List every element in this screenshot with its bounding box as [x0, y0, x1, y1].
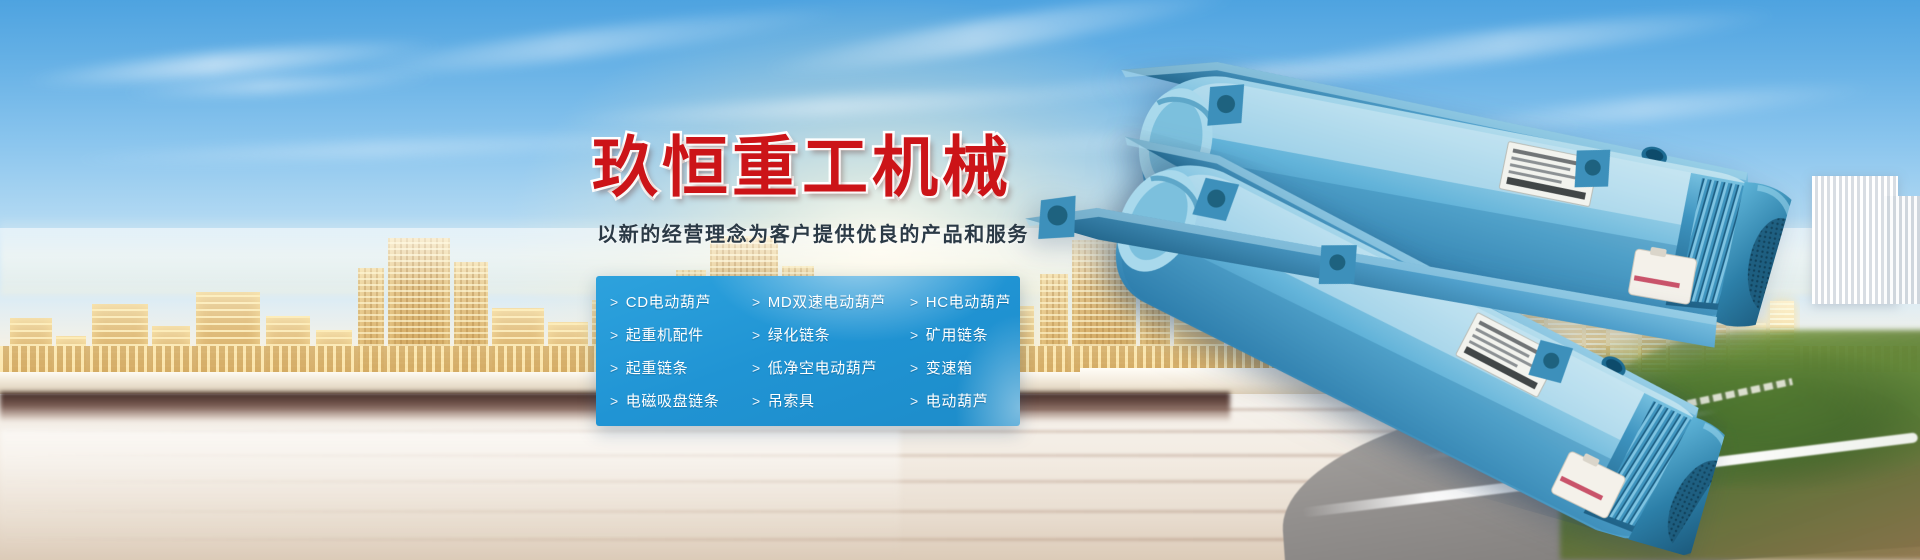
product-link-label: 电磁吸盘链条 — [626, 390, 720, 411]
product-link-6[interactable]: >矿用链条 — [910, 318, 1020, 351]
product-link-label: 变速箱 — [926, 357, 973, 378]
product-links-grid: >CD电动葫芦>MD双速电动葫芦>HC电动葫芦>起重机配件>绿化链条>矿用链条>… — [596, 276, 1020, 426]
product-link-label: 低净空电动葫芦 — [768, 357, 877, 378]
page-subtitle: 以新的经营理念为客户提供优良的产品和服务 — [597, 218, 1029, 247]
product-link-8[interactable]: >低净空电动葫芦 — [752, 351, 910, 384]
product-link-1[interactable]: >CD电动葫芦 — [610, 285, 752, 318]
product-links-panel: >CD电动葫芦>MD双速电动葫芦>HC电动葫芦>起重机配件>绿化链条>矿用链条>… — [596, 276, 1020, 426]
chevron-right-icon: > — [910, 393, 919, 409]
product-link-12[interactable]: >电动葫芦 — [910, 384, 1020, 417]
product-link-2[interactable]: >MD双速电动葫芦 — [752, 285, 910, 318]
product-link-label: 吊索具 — [768, 390, 815, 411]
product-link-5[interactable]: >绿化链条 — [752, 318, 910, 351]
chevron-right-icon: > — [610, 294, 619, 310]
chevron-right-icon: > — [610, 360, 619, 376]
product-link-label: 矿用链条 — [926, 324, 988, 345]
white-skyscraper-secondary — [1884, 196, 1920, 304]
road-motion-blur — [0, 430, 900, 560]
product-link-label: 电动葫芦 — [926, 390, 988, 411]
product-link-11[interactable]: >吊索具 — [752, 384, 910, 417]
product-link-label: HC电动葫芦 — [926, 291, 1011, 312]
product-link-label: MD双速电动葫芦 — [768, 291, 886, 312]
promo-banner: 玖恒重工机械 以新的经营理念为客户提供优良的产品和服务 >CD电动葫芦>MD双速… — [0, 0, 1920, 560]
product-link-9[interactable]: >变速箱 — [910, 351, 1020, 384]
product-link-label: 起重链条 — [626, 357, 688, 378]
chevron-right-icon: > — [752, 294, 761, 310]
chevron-right-icon: > — [910, 360, 919, 376]
product-link-7[interactable]: >起重链条 — [610, 351, 752, 384]
product-link-label: 绿化链条 — [768, 324, 830, 345]
chevron-right-icon: > — [752, 360, 761, 376]
product-link-label: CD电动葫芦 — [626, 291, 711, 312]
product-link-10[interactable]: >电磁吸盘链条 — [610, 384, 752, 417]
chevron-right-icon: > — [752, 327, 761, 343]
chevron-right-icon: > — [752, 393, 761, 409]
product-link-4[interactable]: >起重机配件 — [610, 318, 752, 351]
chevron-right-icon: > — [910, 294, 919, 310]
page-title: 玖恒重工机械 — [592, 114, 1012, 210]
product-link-label: 起重机配件 — [626, 324, 704, 345]
chevron-right-icon: > — [610, 327, 619, 343]
product-link-3[interactable]: >HC电动葫芦 — [910, 285, 1020, 318]
chevron-right-icon: > — [910, 327, 919, 343]
chevron-right-icon: > — [610, 393, 619, 409]
